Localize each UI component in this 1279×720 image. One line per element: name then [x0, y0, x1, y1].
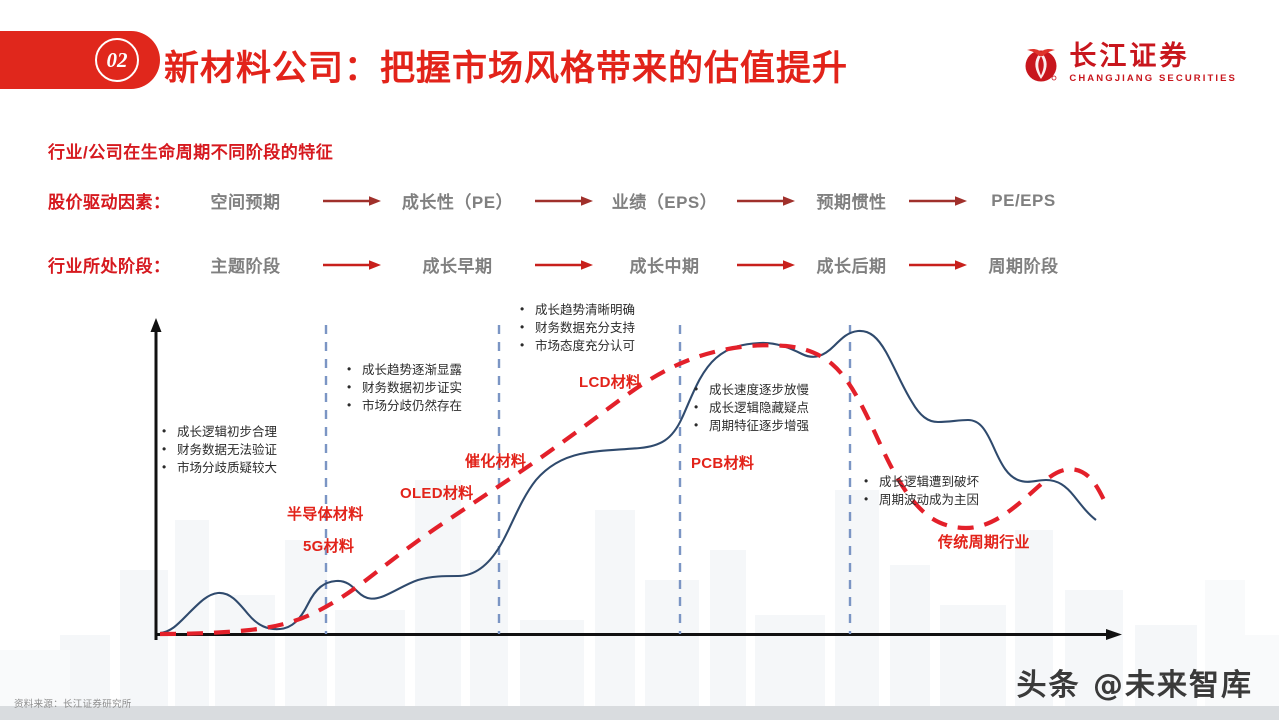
- bullet: 财务数据初步证实: [345, 380, 462, 398]
- bullet: 市场分歧质疑较大: [160, 460, 277, 478]
- logo-chinese-name: 长江证券: [1069, 43, 1237, 70]
- bullet: 成长逻辑隐藏疑点: [692, 400, 809, 418]
- watermark-text: 头条 @未来智库: [1017, 660, 1253, 704]
- arrow-right-icon: [533, 258, 595, 272]
- industry-stage-5: 周期阶段: [969, 252, 1079, 277]
- tag-oled-material: OLED材料: [400, 482, 473, 503]
- industry-stage-2: 成长早期: [383, 252, 533, 277]
- tag-pcb-material: PCB材料: [691, 452, 754, 473]
- driver-stage-4: 预期惯性: [797, 188, 907, 213]
- bullet: 成长趋势逐渐显露: [345, 362, 462, 380]
- chart-canvas: [0, 300, 1279, 660]
- annotation-group-cycle-stage: 成长逻辑遭到破坏 周期波动成为主因: [862, 474, 979, 510]
- slide-root: 02 新材料公司：把握市场风格带来的估值提升 长江证券 CHANGJIANG S…: [0, 0, 1279, 720]
- driver-stage-3: 业绩（EPS）: [595, 188, 735, 213]
- bullet: 财务数据充分支持: [518, 320, 635, 338]
- arrow-right-icon: [907, 258, 969, 272]
- industry-stage-row-label: 行业所处阶段：: [48, 252, 171, 277]
- annotation-group-mid-growth: 成长趋势清晰明确 财务数据充分支持 市场态度充分认可: [518, 302, 635, 355]
- industry-stage-row: 行业所处阶段： 主题阶段 成长早期 成长中期 成长后期 周期阶段: [48, 252, 1079, 277]
- bullet: 财务数据无法验证: [160, 442, 277, 460]
- bullet: 市场分歧仍然存在: [345, 398, 462, 416]
- arrow-right-icon: [321, 258, 383, 272]
- tag-lcd-material: LCD材料: [579, 371, 641, 392]
- tag-catalyst-material: 催化材料: [465, 450, 526, 471]
- annotation-group-theme-stage: 成长逻辑初步合理 财务数据无法验证 市场分歧质疑较大: [160, 424, 277, 477]
- arrow-right-icon: [533, 194, 595, 208]
- bullet: 成长趋势清晰明确: [518, 302, 635, 320]
- driver-stage-1: 空间预期: [171, 188, 321, 213]
- logo-english-name: CHANGJIANG SECURITIES: [1069, 74, 1237, 84]
- company-logo: 长江证券 CHANGJIANG SECURITIES: [1021, 42, 1237, 84]
- bullet: 周期特征逐步增强: [692, 418, 809, 436]
- arrow-right-icon: [907, 194, 969, 208]
- bullet: 成长速度逐步放慢: [692, 382, 809, 400]
- bullet: 成长逻辑初步合理: [160, 424, 277, 442]
- arrow-right-icon: [735, 258, 797, 272]
- source-note: 资料来源：长江证券研究所: [14, 696, 132, 710]
- tag-traditional-cycle-industry: 传统周期行业: [938, 531, 1030, 552]
- bullet: 周期波动成为主因: [862, 492, 979, 510]
- arrow-right-icon: [321, 194, 383, 208]
- industry-stage-3: 成长中期: [595, 252, 735, 277]
- price-driver-row: 股价驱动因素： 空间预期 成长性（PE） 业绩（EPS） 预期惯性 PE/EPS: [48, 188, 1079, 213]
- bullet: 成长逻辑遭到破坏: [862, 474, 979, 492]
- changjiang-emblem-icon: [1021, 42, 1061, 84]
- price-driver-row-label: 股价驱动因素：: [48, 188, 171, 213]
- industry-stage-4: 成长后期: [797, 252, 907, 277]
- bullet: 市场态度充分认可: [518, 338, 635, 356]
- section-number: 02: [107, 48, 128, 73]
- tag-5g-material: 5G材料: [303, 535, 354, 556]
- section-number-badge: 02: [95, 38, 139, 82]
- annotation-group-late-growth: 成长速度逐步放慢 成长逻辑隐藏疑点 周期特征逐步增强: [692, 382, 809, 435]
- tag-semiconductor-material: 半导体材料: [287, 503, 364, 524]
- driver-stage-2: 成长性（PE）: [383, 188, 533, 213]
- lifecycle-chart: [0, 300, 1279, 660]
- section-subtitle: 行业/公司在生命周期不同阶段的特征: [48, 138, 333, 163]
- annotation-group-early-growth: 成长趋势逐渐显露 财务数据初步证实 市场分歧仍然存在: [345, 362, 462, 415]
- industry-stage-1: 主题阶段: [171, 252, 321, 277]
- bottom-strip: [0, 706, 1279, 720]
- arrow-right-icon: [735, 194, 797, 208]
- page-title: 新材料公司：把握市场风格带来的估值提升: [164, 40, 848, 91]
- driver-stage-5: PE/EPS: [969, 191, 1079, 211]
